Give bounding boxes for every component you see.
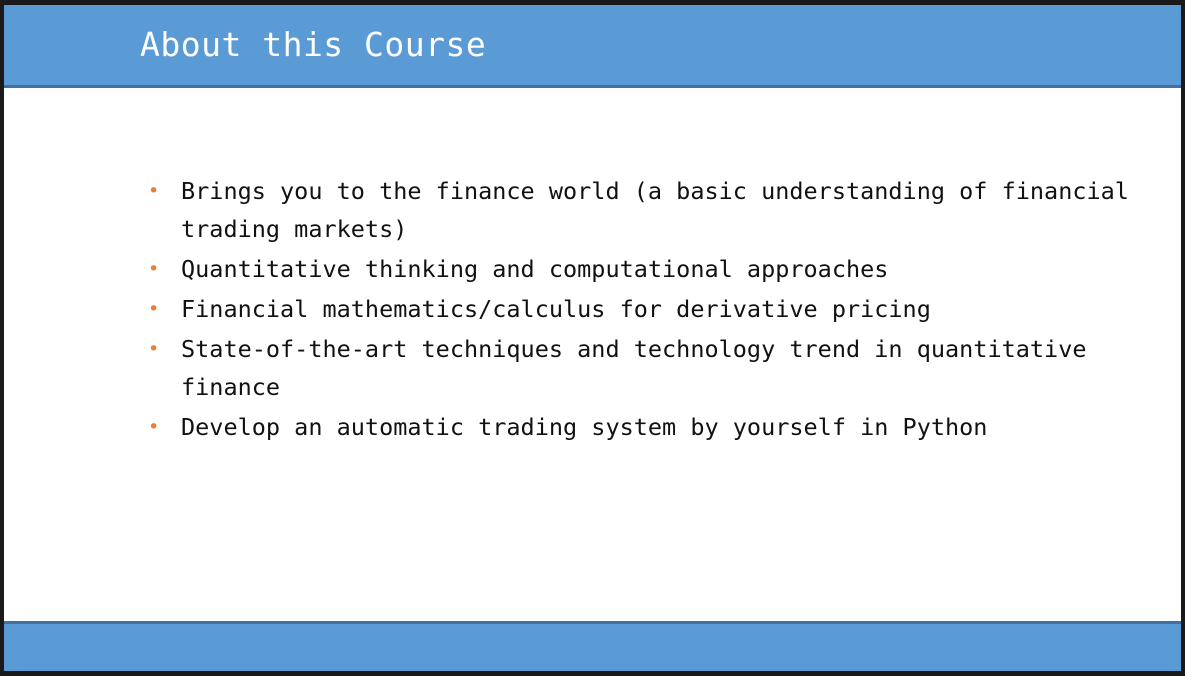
slide-bottom-accent-bar — [4, 621, 1181, 671]
list-item-label: Develop an automatic trading system by y… — [181, 408, 1141, 446]
list-item: • Quantitative thinking and computationa… — [142, 250, 1141, 288]
slide-content-area: • Brings you to the finance world (a bas… — [4, 88, 1181, 621]
slide-title-banner: About this Course — [4, 5, 1181, 88]
bullet-list: • Brings you to the finance world (a bas… — [142, 172, 1141, 448]
bullet-dot-icon: • — [142, 250, 181, 288]
list-item-label: State-of-the-art techniques and technolo… — [181, 330, 1141, 406]
list-item: • State-of-the-art techniques and techno… — [142, 330, 1141, 406]
list-item-label: Financial mathematics/calculus for deriv… — [181, 290, 1141, 328]
bullet-dot-icon: • — [142, 408, 181, 446]
page-title: About this Course — [140, 27, 486, 63]
slide-frame: About this Course • Brings you to the fi… — [0, 0, 1185, 676]
list-item: • Develop an automatic trading system by… — [142, 408, 1141, 446]
bullet-dot-icon: • — [142, 290, 181, 328]
list-item: • Financial mathematics/calculus for der… — [142, 290, 1141, 328]
list-item-label: Brings you to the finance world (a basic… — [181, 172, 1141, 248]
bullet-dot-icon: • — [142, 330, 181, 368]
bullet-dot-icon: • — [142, 172, 181, 210]
list-item: • Brings you to the finance world (a bas… — [142, 172, 1141, 248]
list-item-label: Quantitative thinking and computational … — [181, 250, 1141, 288]
